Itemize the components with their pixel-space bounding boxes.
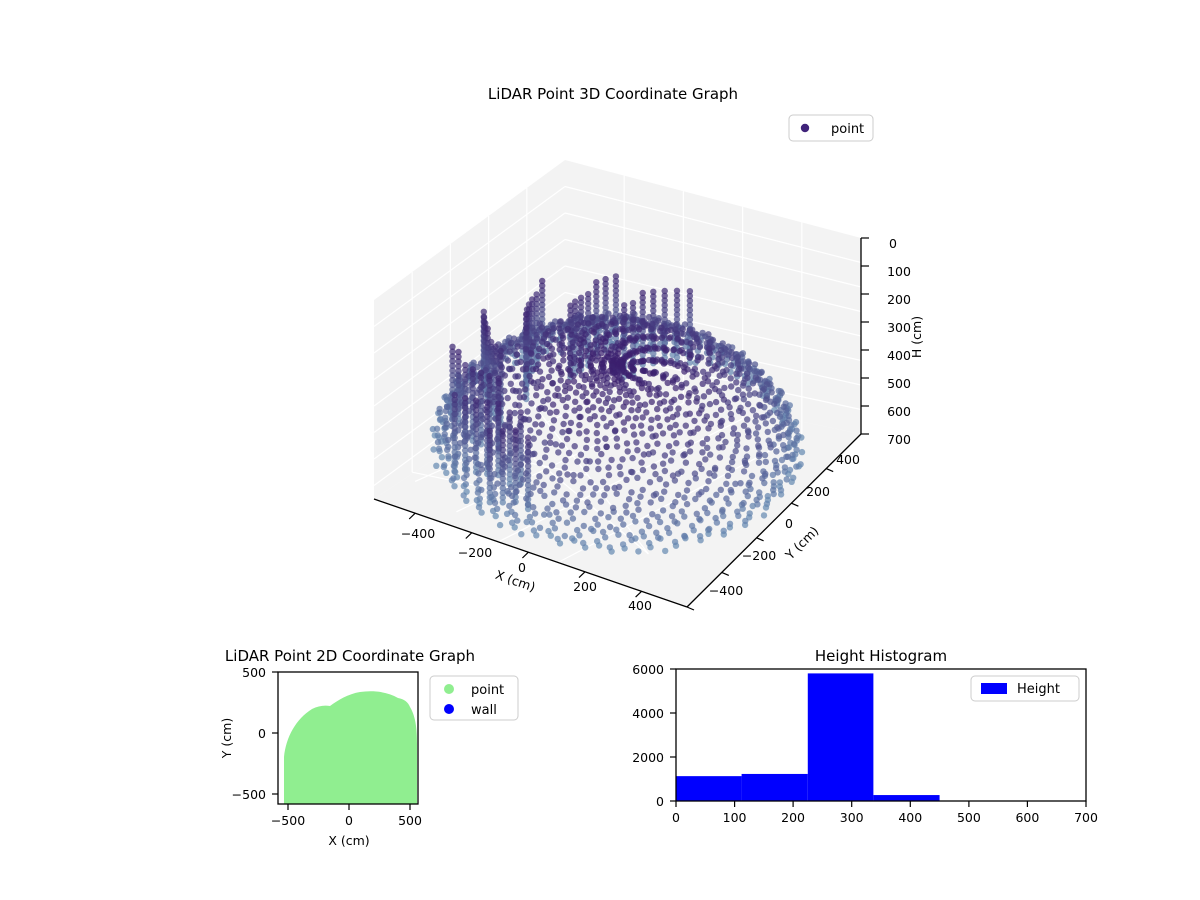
- point-marker: [548, 367, 554, 373]
- point-marker: [537, 460, 543, 466]
- point-marker: [717, 454, 723, 460]
- point-marker: [556, 470, 562, 476]
- panel-hist-xtick-2: 200: [781, 810, 805, 825]
- point-marker: [628, 363, 634, 369]
- point-marker: [702, 375, 708, 381]
- point-marker: [555, 536, 561, 542]
- point-marker: [785, 413, 791, 419]
- point-marker: [742, 460, 748, 466]
- point-marker: [687, 430, 693, 436]
- point-marker: [657, 476, 663, 482]
- panel-hist-xtick-4: 400: [898, 810, 922, 825]
- point-marker: [706, 470, 712, 476]
- point-marker: [629, 455, 635, 461]
- point-marker: [568, 509, 574, 515]
- panel-2d-xtick-0: −500: [271, 813, 305, 828]
- point-marker: [445, 437, 451, 443]
- point-marker: [648, 425, 654, 431]
- point-marker: [541, 493, 547, 499]
- point-marker: [584, 399, 590, 405]
- point-marker: [652, 471, 658, 477]
- point-marker: [740, 391, 746, 397]
- point-marker: [661, 489, 667, 495]
- point-marker: [557, 477, 563, 483]
- point-marker: [569, 535, 575, 541]
- point-marker: [649, 399, 655, 405]
- point-marker: [445, 453, 451, 459]
- point-marker: [718, 423, 724, 429]
- point-marker: [506, 503, 512, 509]
- point-marker: [577, 414, 583, 420]
- axis-z-tick-7: 700: [887, 432, 911, 447]
- panel-2d-title: LiDAR Point 2D Coordinate Graph: [225, 647, 475, 665]
- point-marker: [476, 504, 482, 510]
- point-marker: [522, 386, 528, 392]
- point-marker: [630, 300, 636, 306]
- point-marker: [717, 373, 723, 379]
- point-marker: [542, 454, 548, 460]
- point-marker: [487, 428, 493, 434]
- point-marker: [583, 458, 589, 464]
- point-marker: [681, 368, 687, 374]
- point-marker: [713, 492, 719, 498]
- point-marker: [723, 481, 729, 487]
- point-marker: [669, 513, 675, 519]
- point-marker: [588, 526, 594, 532]
- point-marker: [506, 348, 512, 354]
- point-marker: [778, 487, 784, 493]
- point-marker: [630, 513, 636, 519]
- point-marker: [571, 407, 577, 413]
- point-marker: [539, 278, 545, 284]
- point-marker: [723, 495, 729, 501]
- point-marker: [549, 380, 555, 386]
- point-marker: [443, 393, 449, 399]
- point-marker: [547, 433, 553, 439]
- point-marker: [473, 480, 479, 486]
- axis-x-tick-4: 400: [628, 598, 652, 613]
- point-marker: [756, 489, 762, 495]
- point-marker: [555, 365, 561, 371]
- point-marker: [706, 389, 712, 395]
- point-marker: [560, 397, 566, 403]
- point-marker: [666, 443, 672, 449]
- point-marker: [755, 424, 761, 430]
- point-marker: [571, 378, 577, 384]
- point-marker: [555, 516, 561, 522]
- point-marker: [585, 407, 591, 413]
- axis-z-tick-3: 300: [887, 320, 911, 335]
- point-marker: [562, 388, 568, 394]
- point-marker: [560, 421, 566, 427]
- point-marker: [623, 477, 629, 483]
- point-marker: [567, 355, 573, 361]
- point-marker: [434, 426, 440, 432]
- point-marker: [640, 358, 646, 364]
- legend-2d-label-point: point: [471, 683, 504, 698]
- point-marker: [619, 326, 625, 332]
- point-marker: [683, 460, 689, 466]
- point-marker: [439, 454, 445, 460]
- point-marker: [644, 443, 650, 449]
- point-marker: [657, 423, 663, 429]
- point-marker: [538, 405, 544, 411]
- point-marker: [553, 441, 559, 447]
- point-marker: [713, 399, 719, 405]
- point-marker: [683, 423, 689, 429]
- point-marker: [443, 408, 449, 414]
- point-marker: [598, 451, 604, 457]
- point-marker: [512, 427, 518, 433]
- point-marker: [636, 380, 642, 386]
- point-marker: [759, 414, 765, 420]
- panel-hist-xtick-1: 100: [723, 810, 747, 825]
- point-marker: [602, 276, 608, 282]
- point-marker: [523, 495, 529, 501]
- point-marker: [681, 494, 687, 500]
- point-marker: [581, 320, 587, 326]
- point-marker: [441, 462, 447, 468]
- point-marker: [777, 479, 783, 485]
- axis-y-tick-3: 200: [806, 484, 830, 499]
- point-marker: [535, 413, 541, 419]
- point-marker: [524, 519, 530, 525]
- hist-bar: [808, 673, 874, 801]
- point-marker: [646, 357, 652, 363]
- axis-z-tick-2: 200: [887, 292, 911, 307]
- point-marker: [535, 353, 541, 359]
- point-marker: [673, 422, 679, 428]
- point-marker: [728, 487, 734, 493]
- point-marker: [772, 458, 778, 464]
- point-marker: [741, 468, 747, 474]
- point-marker: [745, 401, 751, 407]
- point-marker: [558, 371, 564, 377]
- point-marker: [689, 330, 695, 336]
- point-marker: [576, 350, 582, 356]
- point-marker: [657, 400, 663, 406]
- point-marker: [599, 361, 605, 367]
- point-marker: [749, 473, 755, 479]
- point-marker: [472, 454, 478, 460]
- point-marker: [620, 521, 626, 527]
- point-marker: [598, 498, 604, 504]
- point-marker: [678, 394, 684, 400]
- point-marker: [587, 416, 593, 422]
- point-marker: [547, 410, 553, 416]
- point-marker: [654, 386, 660, 392]
- point-marker: [619, 456, 625, 462]
- point-marker: [752, 361, 758, 367]
- point-marker: [514, 351, 520, 357]
- point-marker: [576, 383, 582, 389]
- point-marker: [603, 423, 609, 429]
- point-marker: [705, 478, 711, 484]
- point-marker: [765, 429, 771, 435]
- point-marker: [667, 334, 673, 340]
- figure-canvas: LiDAR Point 3D Coordinate Graph: [0, 0, 1200, 900]
- point-marker: [481, 315, 487, 321]
- point-marker: [702, 505, 708, 511]
- point-marker: [774, 410, 780, 416]
- point-marker: [702, 456, 708, 462]
- point-marker: [618, 516, 624, 522]
- point-marker: [514, 343, 520, 349]
- point-marker: [745, 433, 751, 439]
- point-marker: [721, 396, 727, 402]
- point-marker: [770, 472, 776, 478]
- point-marker: [612, 427, 618, 433]
- point-marker: [570, 478, 576, 484]
- point-marker: [621, 404, 627, 410]
- point-marker: [718, 407, 724, 413]
- point-marker: [551, 417, 557, 423]
- point-marker: [675, 405, 681, 411]
- point-marker: [435, 439, 441, 445]
- point-marker: [445, 444, 451, 450]
- point-marker: [505, 357, 511, 363]
- point-marker: [583, 445, 589, 451]
- point-marker: [551, 325, 557, 331]
- point-marker: [617, 389, 623, 395]
- point-marker: [635, 507, 641, 513]
- point-marker: [486, 373, 492, 379]
- point-marker: [580, 540, 586, 546]
- point-marker: [531, 436, 537, 442]
- point-marker: [629, 399, 635, 405]
- point-marker: [679, 384, 685, 390]
- point-marker: [659, 335, 665, 341]
- point-marker: [443, 470, 449, 476]
- point-marker: [533, 366, 539, 372]
- point-marker: [670, 503, 676, 509]
- point-marker: [592, 516, 598, 522]
- point-marker: [733, 379, 739, 385]
- point-marker: [646, 540, 652, 546]
- point-marker: [492, 500, 498, 506]
- point-marker: [641, 451, 647, 457]
- point-marker: [523, 346, 529, 352]
- point-marker: [685, 399, 691, 405]
- point-marker: [584, 499, 590, 505]
- point-marker: [540, 398, 546, 404]
- point-marker: [728, 383, 734, 389]
- legend-hist-swatch-height-icon: [981, 683, 1007, 694]
- point-marker: [570, 515, 576, 521]
- point-marker: [549, 462, 555, 468]
- panel-hist: Height Histogram 0 2000 4000 6000 0 100 …: [632, 647, 1098, 825]
- point-marker: [518, 409, 524, 415]
- panel-hist-ytick-3: 6000: [632, 662, 664, 677]
- point-marker: [463, 460, 469, 466]
- point-marker: [728, 375, 734, 381]
- point-marker: [675, 335, 681, 341]
- point-marker: [635, 407, 641, 413]
- point-marker: [733, 371, 739, 377]
- point-marker: [599, 314, 605, 320]
- point-marker: [700, 369, 706, 375]
- point-marker: [621, 419, 627, 425]
- point-marker: [574, 498, 580, 504]
- point-marker: [640, 367, 646, 373]
- axis-x-tick-2: 0: [518, 560, 526, 575]
- point-marker: [773, 448, 779, 454]
- point-marker: [560, 351, 566, 357]
- legend-3d[interactable]: point: [789, 115, 873, 141]
- point-marker: [603, 400, 609, 406]
- point-marker: [662, 288, 668, 294]
- point-marker: [633, 439, 639, 445]
- point-marker: [585, 291, 591, 297]
- point-marker: [740, 382, 746, 388]
- point-marker: [718, 487, 724, 493]
- point-marker: [543, 468, 549, 474]
- point-marker: [562, 413, 568, 419]
- point-marker: [620, 320, 626, 326]
- point-marker: [572, 399, 578, 405]
- axis-x-tick-1: −200: [458, 545, 492, 560]
- point-marker: [518, 531, 524, 537]
- point-marker: [591, 329, 597, 335]
- point-marker: [662, 548, 668, 554]
- point-marker: [677, 348, 683, 354]
- point-marker: [442, 424, 448, 430]
- point-marker: [613, 331, 619, 337]
- point-marker: [553, 509, 559, 515]
- point-marker: [741, 423, 747, 429]
- point-marker: [669, 449, 675, 455]
- point-marker: [607, 544, 613, 550]
- point-marker: [549, 501, 555, 507]
- point-marker: [601, 492, 607, 498]
- point-marker: [677, 429, 683, 435]
- point-marker: [461, 475, 467, 481]
- point-marker: [433, 463, 439, 469]
- point-marker: [685, 393, 691, 399]
- point-marker: [779, 390, 785, 396]
- point-marker: [643, 518, 649, 524]
- point-marker: [776, 433, 782, 439]
- point-marker: [780, 442, 786, 448]
- point-marker: [555, 386, 561, 392]
- point-marker: [628, 407, 634, 413]
- point-marker: [594, 538, 600, 544]
- legend-3d-label-point: point: [831, 122, 864, 137]
- point-marker: [734, 509, 740, 515]
- point-marker: [595, 458, 601, 464]
- point-marker: [765, 493, 771, 499]
- legend-hist[interactable]: Height: [971, 676, 1079, 701]
- point-marker: [651, 492, 657, 498]
- point-marker: [508, 340, 514, 346]
- point-marker: [732, 396, 738, 402]
- point-marker: [449, 344, 455, 350]
- point-marker: [595, 521, 601, 527]
- point-marker: [668, 399, 674, 405]
- point-marker: [779, 457, 785, 463]
- point-marker: [654, 441, 660, 447]
- point-marker: [638, 459, 644, 465]
- point-marker: [546, 361, 552, 367]
- panel-2d-xlabel: X (cm): [328, 833, 369, 848]
- legend-2d-marker-wall-icon: [444, 704, 454, 714]
- point-marker: [533, 291, 539, 297]
- point-marker: [752, 418, 758, 424]
- panel-hist-xtick-5: 500: [957, 810, 981, 825]
- point-marker: [583, 466, 589, 472]
- point-marker: [770, 418, 776, 424]
- point-marker: [750, 380, 756, 386]
- point-marker: [663, 347, 669, 353]
- point-marker: [640, 414, 646, 420]
- point-marker: [473, 398, 479, 404]
- point-marker: [658, 325, 664, 331]
- point-marker: [528, 378, 534, 384]
- point-marker: [625, 448, 631, 454]
- point-marker: [623, 509, 629, 515]
- point-marker: [771, 479, 777, 485]
- point-marker: [693, 398, 699, 404]
- point-marker: [630, 423, 636, 429]
- legend-2d[interactable]: point wall: [430, 676, 518, 720]
- panel-2d-xtick-2: 500: [398, 813, 422, 828]
- point-marker: [707, 497, 713, 503]
- point-marker: [512, 402, 518, 408]
- point-marker: [507, 409, 513, 415]
- point-marker: [650, 289, 656, 295]
- point-marker: [746, 385, 752, 391]
- point-marker: [437, 416, 443, 422]
- point-marker: [600, 415, 606, 421]
- point-marker: [517, 482, 523, 488]
- point-marker: [451, 463, 457, 469]
- point-marker: [782, 464, 788, 470]
- point-marker: [565, 326, 571, 332]
- point-marker: [763, 459, 769, 465]
- point-marker: [729, 459, 735, 465]
- point-marker: [689, 373, 695, 379]
- panel-2d-ytick-2: −500: [232, 787, 266, 802]
- point-marker: [436, 446, 442, 452]
- point-marker: [588, 363, 594, 369]
- point-marker: [547, 440, 553, 446]
- point-marker: [712, 466, 718, 472]
- point-marker: [544, 505, 550, 511]
- point-marker: [743, 445, 749, 451]
- legend-3d-marker-point-icon: [801, 124, 809, 132]
- point-marker: [763, 420, 769, 426]
- point-marker: [519, 381, 525, 387]
- point-marker: [621, 427, 627, 433]
- point-marker: [608, 457, 614, 463]
- point-marker: [573, 389, 579, 395]
- point-marker: [742, 518, 748, 524]
- point-marker: [634, 475, 640, 481]
- point-marker: [536, 473, 542, 479]
- point-marker: [505, 395, 511, 401]
- point-marker: [685, 441, 691, 447]
- point-marker: [574, 527, 580, 533]
- point-marker: [668, 360, 674, 366]
- point-marker: [430, 446, 436, 452]
- point-marker: [533, 392, 539, 398]
- point-marker: [640, 487, 646, 493]
- point-marker: [638, 422, 644, 428]
- point-marker: [743, 488, 749, 494]
- point-marker: [791, 441, 797, 447]
- point-marker: [613, 412, 619, 418]
- point-marker: [725, 465, 731, 471]
